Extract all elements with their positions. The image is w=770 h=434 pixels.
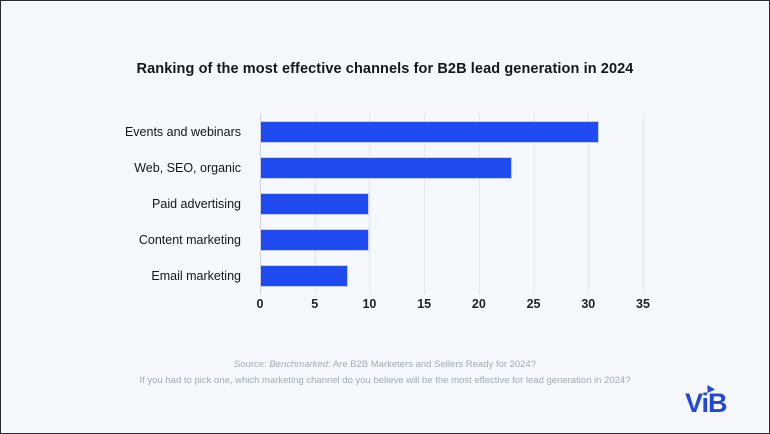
bar[interactable] [260,229,369,251]
vib-logo-text: ViB [685,390,727,417]
bar-row [260,186,643,222]
bar[interactable] [260,193,369,215]
y-axis-label: Content marketing [139,222,241,258]
y-axis-label: Web, SEO, organic [134,150,241,186]
bar[interactable] [260,157,512,179]
x-axis-tick-15: 15 [417,297,431,311]
vib-logo: ViB [685,383,747,417]
chart-title: Ranking of the most effective channels f… [1,61,769,77]
footer-source-italic: Benchmarked [269,359,328,370]
y-axis-category-labels: Events and webinarsWeb, SEO, organicPaid… [71,114,251,294]
x-axis-tick-10: 10 [362,297,376,311]
x-axis-tick-35: 35 [636,297,650,311]
x-axis-tick-labels: 05101520253035 [260,297,643,317]
x-axis-tick-0: 0 [257,297,264,311]
footer-question: If you had to pick one, which marketing … [1,373,769,389]
x-axis-tick-25: 25 [527,297,541,311]
y-axis-label: Events and webinars [125,114,241,150]
bar-series [260,114,643,294]
footer-source-suffix: : Are B2B Marketers and Sellers Ready fo… [328,359,536,370]
footer-source: Source: Benchmarked: Are B2B Marketers a… [1,357,769,373]
gridline-35 [643,114,644,294]
chart-slide: Ranking of the most effective channels f… [0,0,770,434]
footer: Source: Benchmarked: Are B2B Marketers a… [1,357,769,389]
bar-row [260,222,643,258]
x-axis-tick-5: 5 [311,297,318,311]
plot-area [260,114,643,294]
bar[interactable] [260,265,348,287]
x-axis-tick-20: 20 [472,297,486,311]
footer-source-prefix: Source: [234,359,269,370]
bar-row [260,258,643,294]
bar-row [260,150,643,186]
y-axis-label: Paid advertising [152,186,241,222]
y-axis-label: Email marketing [151,258,241,294]
x-axis-tick-30: 30 [581,297,595,311]
bar-row [260,114,643,150]
bar[interactable] [260,121,599,143]
